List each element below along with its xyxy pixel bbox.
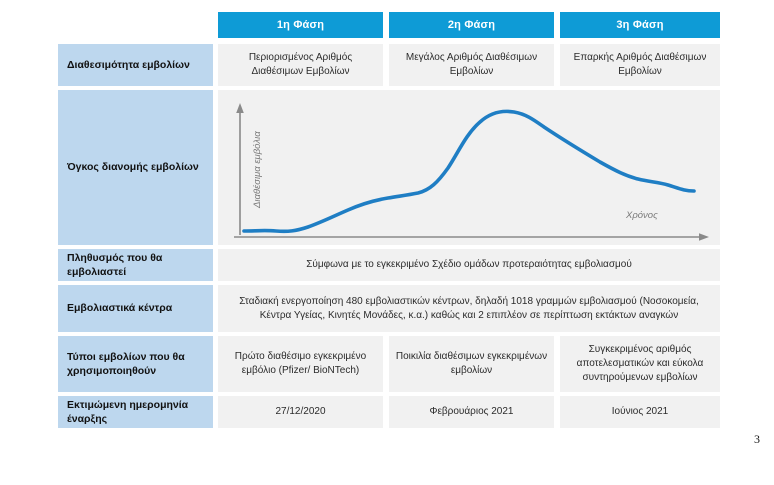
page-number: 3 bbox=[754, 432, 760, 447]
row-label-availability: Διαθεσιμότητα εμβολίων bbox=[58, 44, 213, 86]
slide-canvas: 1η Φάση 2η Φάση 3η Φάση Διαθεσιμότητα εμ… bbox=[0, 0, 774, 485]
cell-availability-phase2: Μεγάλος Αριθμός Διαθέσιμων Εμβολίων bbox=[389, 44, 554, 86]
chart-svg: Διαθέσιμα εμβόλια Χρόνος bbox=[218, 90, 720, 245]
cell-start-date-phase3: Ιούνιος 2021 bbox=[560, 396, 720, 428]
row-label-start-date: Εκτιμώμενη ημερομηνία έναρξης bbox=[58, 396, 213, 428]
cell-population-all-phases: Σύμφωνα με το εγκεκριμένο Σχέδιο ομάδων … bbox=[218, 249, 720, 281]
cell-availability-phase1: Περιορισμένος Αριθμός Διαθέσιμων Εμβολίω… bbox=[218, 44, 383, 86]
distribution-volume-chart: Διαθέσιμα εμβόλια Χρόνος bbox=[218, 90, 720, 245]
row-label-distribution-volume: Όγκος διανομής εμβολίων bbox=[58, 90, 213, 245]
y-axis bbox=[236, 103, 244, 235]
phase-header-2: 2η Φάση bbox=[389, 12, 554, 38]
cell-start-date-phase2: Φεβρουάριος 2021 bbox=[389, 396, 554, 428]
cell-availability-phase3: Επαρκής Αριθμός Διαθέσιμων Εμβολίων bbox=[560, 44, 720, 86]
cell-vaccine-types-phase3: Συγκεκριμένος αριθμός αποτελεσματικών κα… bbox=[560, 336, 720, 392]
cell-vaccine-types-phase2: Ποικιλία διαθέσιμων εγκεκριμένων εμβολίω… bbox=[389, 336, 554, 392]
cell-vaccine-types-phase1: Πρώτο διαθέσιμο εγκεκριμένο εμβόλιο (Pfi… bbox=[218, 336, 383, 392]
row-label-population: Πληθυσμός που θα εμβολιαστεί bbox=[58, 249, 213, 281]
top-white-strip bbox=[0, 0, 774, 7]
x-axis bbox=[234, 233, 709, 241]
cell-start-date-phase1: 27/12/2020 bbox=[218, 396, 383, 428]
phase-header-1: 1η Φάση bbox=[218, 12, 383, 38]
chart-ylabel: Διαθέσιμα εμβόλια bbox=[252, 131, 263, 209]
cell-vaccination-centers-all-phases: Σταδιακή ενεργοποίηση 480 εμβολιαστικών … bbox=[218, 285, 720, 332]
phase-header-3: 3η Φάση bbox=[560, 12, 720, 38]
row-label-vaccination-centers: Εμβολιαστικά κέντρα bbox=[58, 285, 213, 332]
row-label-vaccine-types: Τύποι εμβολίων που θα χρησιμοποιηθούν bbox=[58, 336, 213, 392]
chart-xlabel: Χρόνος bbox=[625, 210, 658, 221]
